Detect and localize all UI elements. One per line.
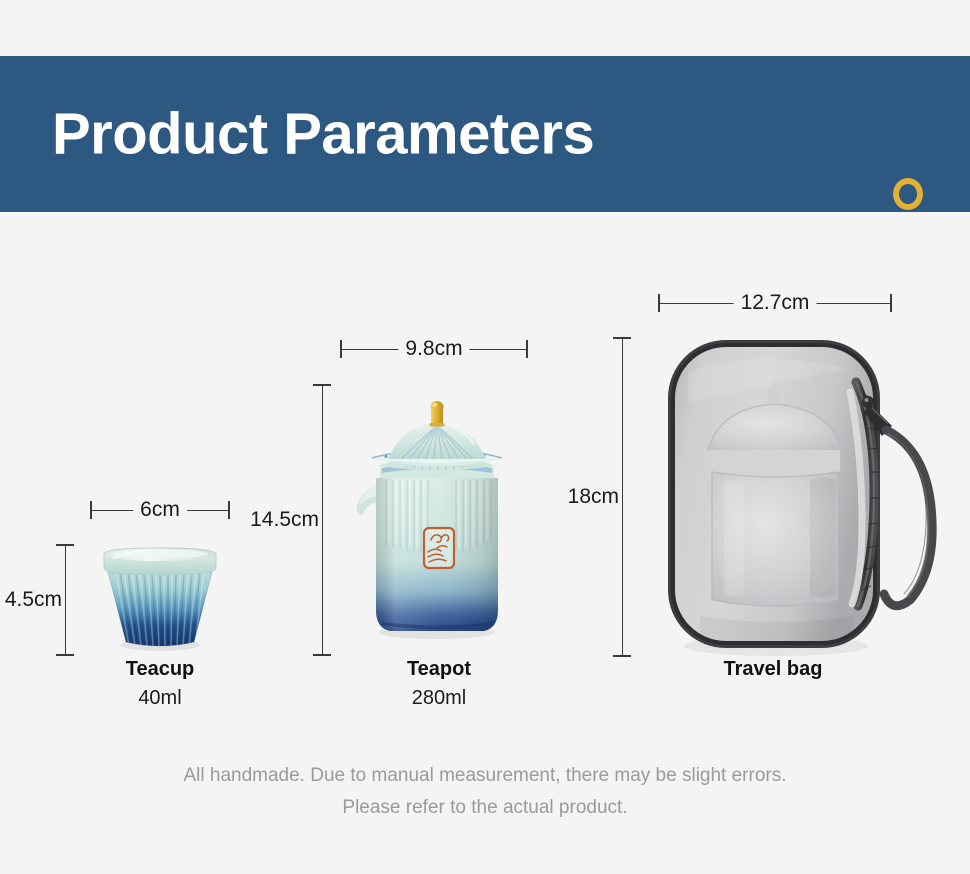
dimension-cap-bottom [313,654,331,656]
product-parameters-page: Product Parameters 6cm 4.5cm [0,0,970,874]
products-row: 6cm 4.5cm [0,212,970,732]
travel-bag-name: Travel bag [700,655,846,683]
teapot-height-label: 14.5cm [248,505,321,535]
teacup-height-dimension: 4.5cm [55,544,77,656]
bag-width-dimension: 12.7cm [658,293,892,313]
dimension-cap-top [313,384,331,386]
teacup-width-dimension: 6cm [90,500,230,520]
teapot-caption: Teapot 280ml [365,655,513,713]
page-title: Product Parameters [52,101,594,168]
teacup-illustration [90,542,230,657]
dimension-cap-left [658,294,660,312]
bag-height-dimension: 18cm [612,337,634,657]
disclaimer-line-1: All handmade. Due to manual measurement,… [0,760,970,792]
dimension-bar [322,384,323,656]
dimension-bar [622,337,623,657]
dimension-cap-bottom [56,654,74,656]
dimension-cap-left [90,501,92,519]
teapot-illustration [352,382,522,657]
teacup-name: Teacup [88,655,232,683]
teapot-width-label: 9.8cm [398,338,469,360]
header-banner: Product Parameters [0,56,970,212]
wrist-strap [884,430,932,606]
dimension-bar [65,544,66,656]
bag-height-label: 18cm [566,482,621,512]
teacup-height-label: 4.5cm [3,585,64,615]
dimension-cap-right [890,294,892,312]
teapot-svg [352,382,522,657]
teapot-name: Teapot [365,655,513,683]
dimension-cap-top [613,337,631,339]
disclaimer-line-2: Please refer to the actual product. [0,792,970,824]
teacup-volume: 40ml [88,683,232,713]
travel-bag-illustration [660,332,950,662]
teapot-height-dimension: 14.5cm [312,384,334,656]
gold-finial-icon [430,401,445,427]
disclaimer: All handmade. Due to manual measurement,… [0,760,970,824]
teacup-width-label: 6cm [133,499,187,521]
wrist-strap-highlight [888,434,928,596]
teapot-width-dimension: 9.8cm [340,339,528,359]
teapot-volume: 280ml [365,683,513,713]
dimension-cap-right [526,340,528,358]
travel-bag-caption: Travel bag [700,655,846,683]
dimension-cap-bottom [613,655,631,657]
dimension-cap-right [228,501,230,519]
circle-ring-icon [893,178,923,210]
travel-bag-svg [660,332,950,662]
wave-emblem-icon [424,528,454,568]
teacup-svg [90,542,230,657]
dimension-cap-left [340,340,342,358]
bag-width-label: 12.7cm [734,292,817,314]
dimension-cap-top [56,544,74,546]
teacup-caption: Teacup 40ml [88,655,232,713]
